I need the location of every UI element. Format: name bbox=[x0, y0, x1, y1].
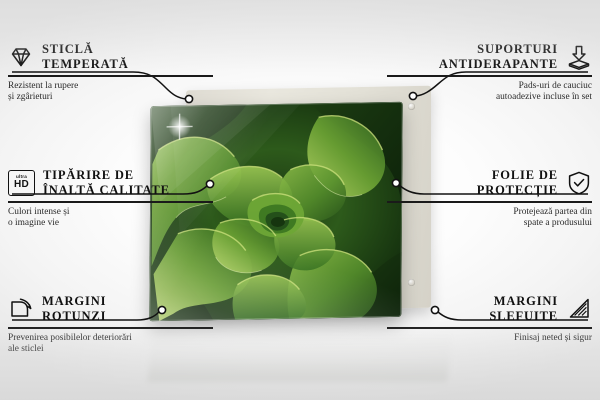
feature-desc: Rezistent la rupere și zgârieturi bbox=[8, 81, 213, 104]
feature-title: MARGINI ROTUNZI bbox=[42, 294, 106, 323]
rubber-pad-top bbox=[408, 103, 415, 110]
feature-desc: Prevenirea posibilelor deteriorări ale s… bbox=[8, 333, 213, 356]
feature-rule bbox=[387, 75, 592, 77]
feature-header: STICLĂ TEMPERATĂ bbox=[8, 42, 213, 71]
feature-rule bbox=[8, 327, 213, 329]
feature-title: TIPĂRIRE DE ÎNALTĂ CALITATE bbox=[43, 168, 170, 197]
feature-header: SUPORTURI ANTIDERAPANTE bbox=[387, 42, 592, 71]
feature-title: MARGINI SLEFUITE bbox=[489, 294, 558, 323]
pads-download-icon bbox=[566, 44, 592, 70]
feature-title: STICLĂ TEMPERATĂ bbox=[42, 42, 129, 71]
rounded-corner-icon bbox=[8, 296, 34, 322]
feature-header: FOLIE DE PROTECȚIE bbox=[387, 168, 592, 197]
rubber-pad-bottom bbox=[408, 279, 415, 286]
feature-header: MARGINI SLEFUITE bbox=[387, 294, 592, 323]
feature-desc: Protejează partea din spate a produsului bbox=[387, 207, 592, 230]
feature-rule bbox=[8, 75, 213, 77]
badge-hd-text: HD bbox=[14, 180, 29, 190]
feature-title: FOLIE DE PROTECȚIE bbox=[477, 168, 558, 197]
hatched-triangle-icon bbox=[566, 296, 592, 322]
infographic-canvas: STICLĂ TEMPERATĂ Rezistent la rupere și … bbox=[0, 0, 600, 400]
ultra-hd-badge-icon: ultra HD bbox=[8, 170, 35, 196]
feature-desc: Finisaj neted și sigur bbox=[387, 333, 592, 345]
feature-tempered-glass: STICLĂ TEMPERATĂ Rezistent la rupere și … bbox=[8, 42, 213, 104]
diamond-icon bbox=[8, 44, 34, 70]
feature-desc: Pads-uri de cauciuc autoadezive incluse … bbox=[387, 81, 592, 104]
feature-polished-edges: MARGINI SLEFUITE Finisaj neted și sigur bbox=[387, 294, 592, 344]
feature-anti-slip-supports: SUPORTURI ANTIDERAPANTE Pads-uri de cauc… bbox=[387, 42, 592, 104]
feature-rule bbox=[387, 201, 592, 203]
feature-header: ultra HD TIPĂRIRE DE ÎNALTĂ CALITATE bbox=[8, 168, 213, 197]
feature-high-quality-print: ultra HD TIPĂRIRE DE ÎNALTĂ CALITATE Cul… bbox=[8, 168, 213, 230]
feature-header: MARGINI ROTUNZI bbox=[8, 294, 213, 323]
feature-rule bbox=[8, 201, 213, 203]
feature-rounded-edges: MARGINI ROTUNZI Prevenirea posibilelor d… bbox=[8, 294, 213, 356]
shield-check-icon bbox=[566, 170, 592, 196]
feature-title: SUPORTURI ANTIDERAPANTE bbox=[439, 42, 558, 71]
feature-rule bbox=[387, 327, 592, 329]
feature-desc: Culori intense și o imagine vie bbox=[8, 207, 213, 230]
feature-protective-film: FOLIE DE PROTECȚIE Protejează partea din… bbox=[387, 168, 592, 230]
